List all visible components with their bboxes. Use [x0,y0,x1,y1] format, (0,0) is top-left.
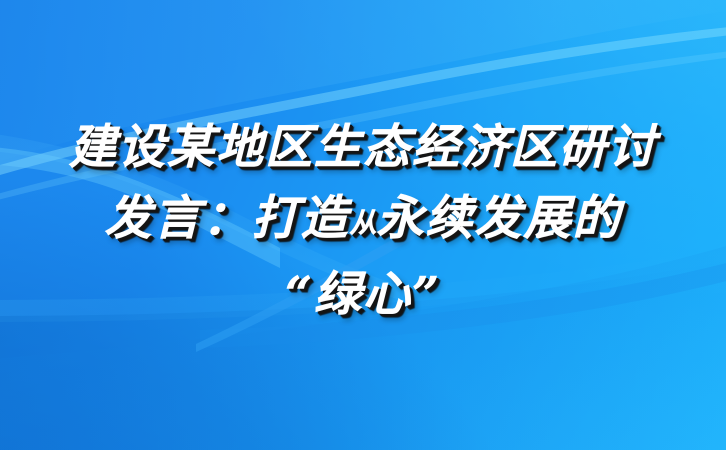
title-line-3: “绿心” [0,259,726,330]
title-line-2: 发言：打造从永续发展的 [0,183,726,259]
title-block: 建设某地区生态经济区研讨 发言：打造从永续发展的 “绿心” [0,112,726,330]
title-line-1: 建设某地区生态经济区研讨 [0,112,726,183]
title-line-2-prefix: 发言：打造 [105,191,350,246]
title-line-2-small-char: 从 [350,208,377,239]
presentation-slide: 建设某地区生态经济区研讨 发言：打造从永续发展的 “绿心” [0,0,726,450]
title-line-2-suffix: 永续发展的 [377,191,622,246]
